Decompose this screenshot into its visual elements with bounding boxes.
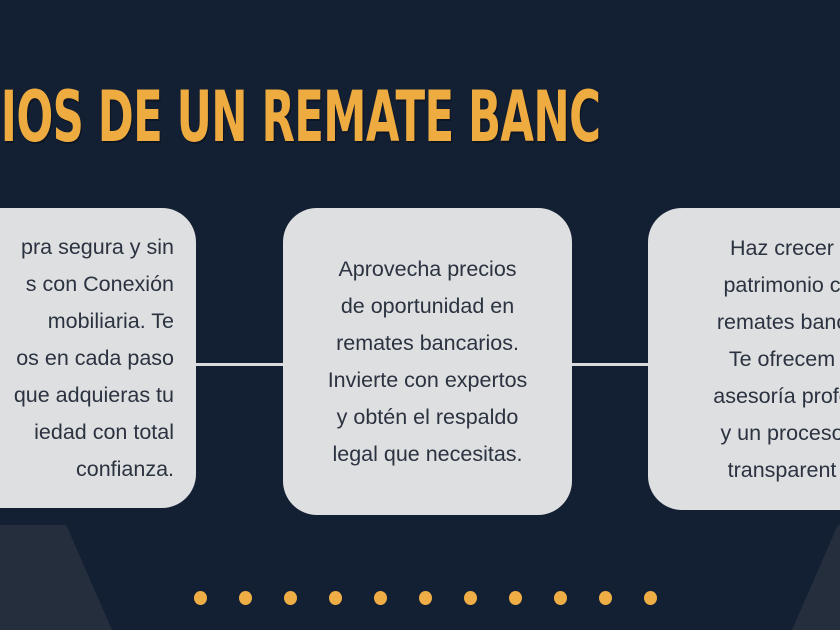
pagination-dot[interactable]: [554, 591, 567, 605]
pagination-dot[interactable]: [374, 591, 387, 605]
benefit-card-left-text: pra segura y sin s con Conexión mobiliar…: [0, 229, 196, 488]
pagination-dot[interactable]: [284, 591, 297, 605]
pagination-dot[interactable]: [464, 591, 477, 605]
benefit-card-middle-text: Aprovecha precios de oportunidad en rema…: [283, 251, 572, 473]
pagination-dot[interactable]: [329, 591, 342, 605]
pagination-dot[interactable]: [644, 591, 657, 605]
pagination-dots[interactable]: [194, 591, 657, 605]
slide-canvas: EFICIOS DE UN REMATE BANC pra segura y s…: [0, 0, 840, 630]
benefit-card-left[interactable]: pra segura y sin s con Conexión mobiliar…: [0, 208, 196, 508]
connector-line-left: [196, 363, 284, 366]
pagination-dot[interactable]: [599, 591, 612, 605]
benefit-card-middle[interactable]: Aprovecha precios de oportunidad en rema…: [283, 208, 572, 515]
pagination-dot[interactable]: [509, 591, 522, 605]
pagination-dot[interactable]: [419, 591, 432, 605]
page-title: EFICIOS DE UN REMATE BANC: [0, 76, 840, 158]
benefit-card-right[interactable]: Haz crecer patrimonio c remates banc Te …: [648, 208, 840, 510]
page-title-text: EFICIOS DE UN REMATE BANC: [0, 76, 600, 158]
connector-line-right: [572, 363, 649, 366]
pagination-dot[interactable]: [239, 591, 252, 605]
benefit-card-right-text: Haz crecer patrimonio c remates banc Te …: [648, 230, 840, 489]
pagination-dot[interactable]: [194, 591, 207, 605]
